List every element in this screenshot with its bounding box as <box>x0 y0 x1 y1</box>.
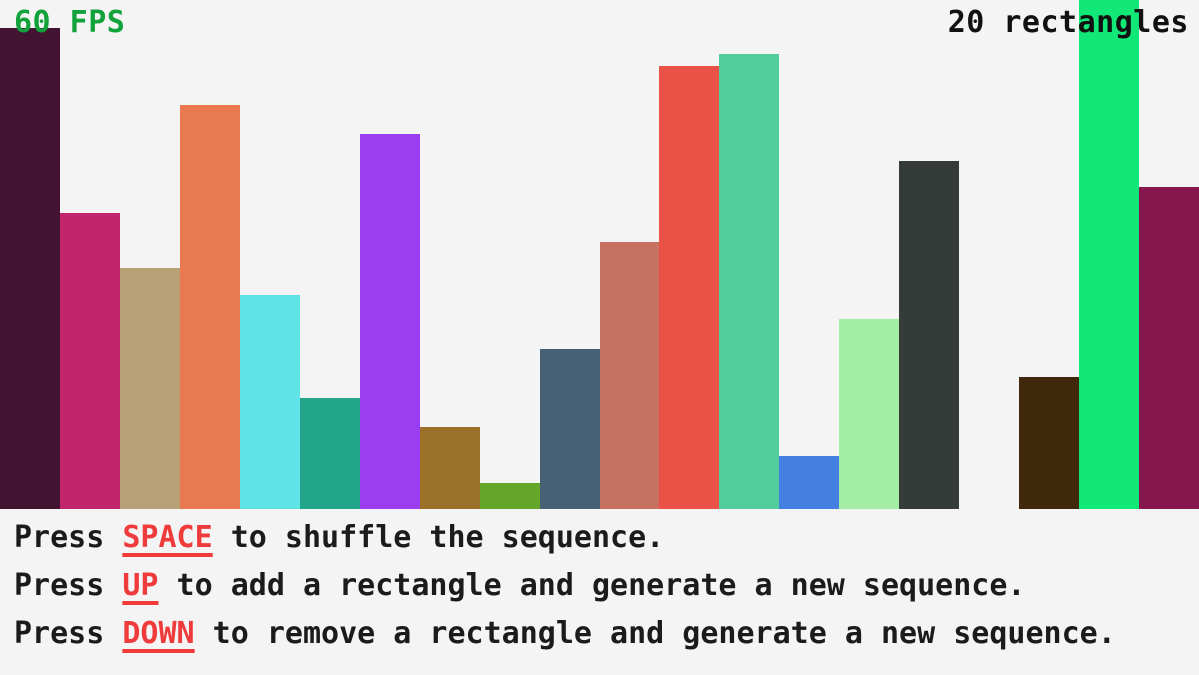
chart-bar <box>1139 187 1199 509</box>
rectangle-count-label: 20 rectangles <box>948 8 1189 38</box>
chart-bar <box>839 319 899 509</box>
chart-bar <box>779 456 839 509</box>
chart-bar <box>600 242 659 509</box>
chart-bar <box>360 134 420 509</box>
chart-bar <box>120 268 180 509</box>
instruction-line-shuffle: Press SPACE to shuffle the sequence. <box>14 523 1199 553</box>
chart-bar <box>1019 377 1079 509</box>
chart-bar <box>540 349 600 509</box>
instruction-suffix: to remove a rectangle and generate a new… <box>195 616 1116 651</box>
instruction-prefix: Press <box>14 568 122 603</box>
chart-bar <box>240 295 300 509</box>
chart-bar <box>899 161 959 509</box>
instruction-line-remove: Press DOWN to remove a rectangle and gen… <box>14 619 1199 649</box>
chart-bar <box>719 54 779 509</box>
chart-bar <box>480 483 540 509</box>
key-down[interactable]: DOWN <box>122 616 194 651</box>
key-space[interactable]: SPACE <box>122 520 212 555</box>
chart-bar <box>659 66 719 509</box>
rectangle-chart <box>0 0 1199 509</box>
fps-counter: 60 FPS <box>14 8 125 38</box>
chart-bar <box>420 427 480 509</box>
instruction-suffix: to add a rectangle and generate a new se… <box>159 568 1026 603</box>
chart-bar <box>180 105 240 509</box>
instruction-line-add: Press UP to add a rectangle and generate… <box>14 571 1199 601</box>
instruction-suffix: to shuffle the sequence. <box>213 520 665 555</box>
chart-bar <box>60 213 120 509</box>
chart-bar <box>300 398 360 509</box>
instruction-prefix: Press <box>14 616 122 651</box>
instructions-panel: Press SPACE to shuffle the sequence. Pre… <box>0 509 1199 675</box>
chart-bar <box>1079 0 1139 509</box>
key-up[interactable]: UP <box>122 568 158 603</box>
instruction-prefix: Press <box>14 520 122 555</box>
chart-bar <box>0 28 60 509</box>
app-root: 60 FPS 20 rectangles Press SPACE to shuf… <box>0 0 1199 675</box>
